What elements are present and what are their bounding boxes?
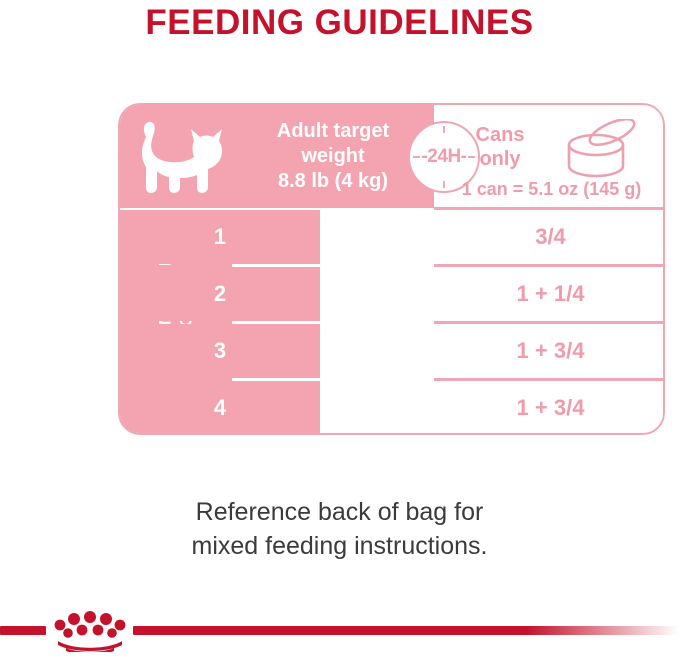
adult-target-weight-block: Adult target weight 8.8 lb (4 kg) xyxy=(238,119,428,194)
royal-canin-crown-logo xyxy=(48,608,132,652)
feeding-guidelines-table: Adult target weight 8.8 lb (4 kg) -24H- … xyxy=(118,103,665,435)
table-row-amount: 1 + 1/4 xyxy=(436,267,665,321)
caption-line2: mixed feeding instructions. xyxy=(0,529,679,563)
footer-bar-right xyxy=(133,626,679,635)
table-body: Adult target weight 8.8 lb (4 kg) -24H- … xyxy=(118,103,665,435)
cans-only-block: Cans only 1 can = 5.1 oz (145 g) xyxy=(438,117,665,205)
adult-target-weight-value: 8.8 lb (4 kg) xyxy=(238,169,428,194)
cans-only-line1: Cans xyxy=(452,123,548,147)
kitten-silhouette-icon xyxy=(130,117,230,199)
table-row-month: 3 xyxy=(120,324,320,378)
table-row-amount: 1 + 3/4 xyxy=(436,324,665,378)
cans-only-label: Cans only xyxy=(452,123,548,171)
table-row-amount: 1 + 3/4 xyxy=(436,381,665,435)
adult-target-weight-line1: Adult target xyxy=(238,119,428,144)
table-row-month: 2 xyxy=(120,267,320,321)
table-row-month: 1 xyxy=(120,210,320,264)
table-row-month: 4 xyxy=(120,381,320,435)
adult-target-weight-line2: weight xyxy=(238,144,428,169)
can-equivalence-label: 1 can = 5.1 oz (145 g) xyxy=(438,179,665,200)
table-header-divider xyxy=(434,207,665,210)
footer xyxy=(0,600,679,655)
caption: Reference back of bag for mixed feeding … xyxy=(0,495,679,563)
cans-only-line2: only xyxy=(452,147,548,171)
table-row-amount: 3/4 xyxy=(436,210,665,264)
footer-bar-left xyxy=(0,626,46,635)
caption-line1: Reference back of bag for xyxy=(0,495,679,529)
open-can-icon xyxy=(556,119,642,181)
page-title: FEEDING GUIDELINES xyxy=(0,2,679,44)
